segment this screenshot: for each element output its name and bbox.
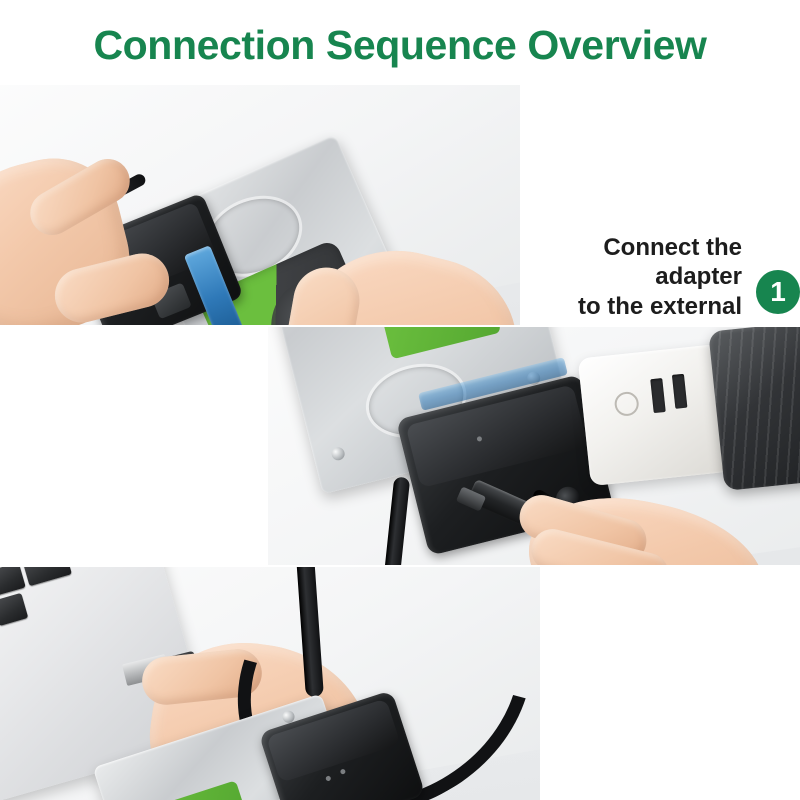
step-panel-2: 2 Connect to the power supply. Note: DC …	[0, 327, 800, 565]
hdd-green-label-strip	[125, 780, 248, 800]
step-1-caption-text: Connect the adapter to the external disk…	[525, 233, 742, 325]
keyboard-key[interactable]	[0, 593, 28, 626]
step-1-badge: 1	[756, 270, 800, 314]
brick-ribs	[708, 327, 800, 491]
hdd-screw	[330, 446, 346, 462]
usb-port-a[interactable]	[650, 378, 665, 413]
laptop-keyboard[interactable]	[0, 567, 117, 714]
hdd-green-label-strip	[381, 327, 501, 359]
keyboard-key[interactable]	[22, 567, 71, 586]
white-usb-block	[578, 344, 733, 486]
page-title: Connection Sequence Overview	[0, 14, 800, 76]
product-instruction-graphic: Connection Sequence Overview SEAGATE BAR…	[0, 0, 800, 800]
step-panel-1: SEAGATE BARRACUDA Conne	[0, 85, 800, 325]
step-2-photo	[268, 327, 800, 565]
power-button-icon[interactable]	[613, 391, 639, 417]
step-1-caption: Connect the adapter to the external disk…	[525, 233, 800, 325]
step-1-photo: SEAGATE BARRACUDA	[0, 85, 520, 325]
page-title-text: Connection Sequence Overview	[93, 25, 706, 66]
step-panel-3: Plug in the USB porton PC/laptop. 3	[0, 567, 800, 800]
adapter-led	[325, 775, 331, 781]
keyboard-key[interactable]	[0, 567, 26, 596]
black-power-brick	[708, 327, 800, 491]
step-3-photo	[0, 567, 540, 800]
adapter-led	[340, 768, 346, 774]
usb-port-b[interactable]	[672, 374, 687, 409]
